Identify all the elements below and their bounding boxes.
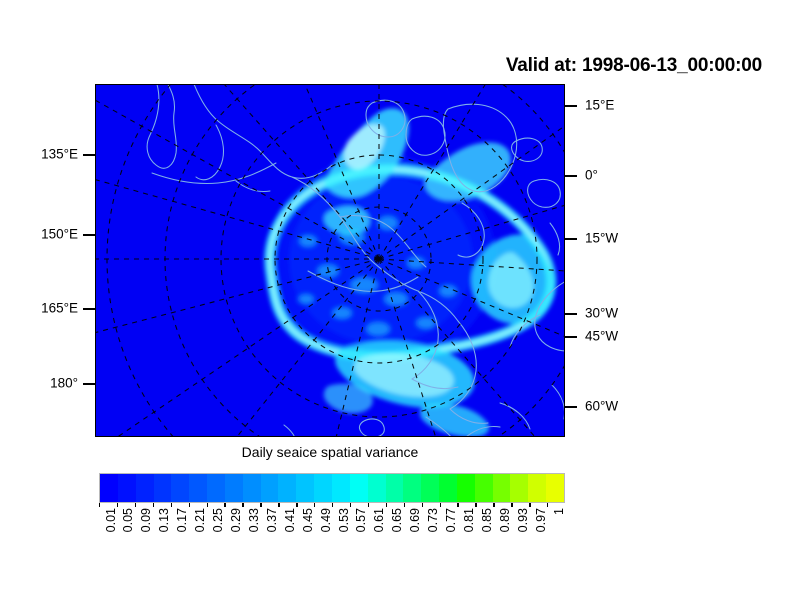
colorbar-tick-label: 0.01 (105, 508, 118, 532)
right-tick (565, 406, 577, 408)
colorbar-swatch (510, 474, 528, 502)
colorbar-tick (547, 503, 548, 507)
page-title: Valid at: 1998-06-13_00:00:00 (506, 55, 762, 77)
colorbar-swatch (350, 474, 368, 502)
colorbar-swatch (261, 474, 279, 502)
figure-canvas: Valid at: 1998-06-13_00:00:00 (0, 0, 792, 612)
colorbar-tick-label: 0.33 (248, 508, 261, 532)
colorbar-swatch (439, 474, 457, 502)
colorbar-tick (422, 503, 423, 507)
colorbar-tick-label: 0.85 (481, 508, 494, 532)
colorbar-swatch (243, 474, 261, 502)
colorbar-tick (135, 503, 136, 507)
colorbar-tick-label: 0.61 (373, 508, 386, 532)
colorbar-tick (224, 503, 225, 507)
colorbar-tick-label: 0.29 (230, 508, 243, 532)
map-panel[interactable] (95, 84, 565, 437)
colorbar-tick-label: 0.53 (338, 508, 351, 532)
colorbar-swatch (386, 474, 404, 502)
colorbar-swatch (546, 474, 564, 502)
right-tick (565, 336, 577, 338)
colorbar-swatch (171, 474, 189, 502)
colorbar-tick (189, 503, 190, 507)
colorbar-tick (242, 503, 243, 507)
colorbar-tick-label: 0.65 (391, 508, 404, 532)
right-tick (565, 313, 577, 315)
colorbar-gradient[interactable] (99, 473, 565, 503)
colorbar-swatch (457, 474, 475, 502)
left-axis-label: 135°E (0, 147, 78, 161)
colorbar-tick-label: 0.45 (302, 508, 315, 532)
colorbar[interactable] (99, 473, 565, 503)
colorbar-swatch (118, 474, 136, 502)
polar-stereographic-map (96, 85, 565, 437)
colorbar-swatch (136, 474, 154, 502)
left-tick (83, 383, 95, 385)
right-axis-label: 60°W (585, 399, 618, 413)
right-axis-label: 30°W (585, 306, 618, 320)
left-axis-label: 165°E (0, 301, 78, 315)
right-axis-label: 0° (585, 168, 598, 182)
colorbar-swatch (296, 474, 314, 502)
colorbar-tick (493, 503, 494, 507)
colorbar-tick (332, 503, 333, 507)
left-axis-label: 150°E (0, 227, 78, 241)
colorbar-tick-label: 0.73 (427, 508, 440, 532)
colorbar-tick-label: 0.09 (140, 508, 153, 532)
colorbar-tick (368, 503, 369, 507)
colorbar-tick (278, 503, 279, 507)
colorbar-tick-label: 0.41 (284, 508, 297, 532)
colorbar-tick (296, 503, 297, 507)
right-tick (565, 105, 577, 107)
colorbar-tick-label: 0.13 (158, 508, 171, 532)
colorbar-tick (529, 503, 530, 507)
right-tick (565, 238, 577, 240)
colorbar-tick-label: 0.37 (266, 508, 279, 532)
colorbar-tick (350, 503, 351, 507)
colorbar-tick-label: 0.17 (176, 508, 189, 532)
colorbar-tick (404, 503, 405, 507)
right-axis-label: 15°E (585, 98, 614, 112)
colorbar-tick-label: 0.89 (499, 508, 512, 532)
colorbar-tick (386, 503, 387, 507)
colorbar-swatch (225, 474, 243, 502)
colorbar-tick-label: 0.97 (535, 508, 548, 532)
colorbar-tick (260, 503, 261, 507)
colorbar-tick (457, 503, 458, 507)
colorbar-swatch (100, 474, 118, 502)
colorbar-tick-label: 0.21 (194, 508, 207, 532)
colorbar-caption: Daily seaice spatial variance (95, 444, 565, 460)
colorbar-tick-label: 0.69 (409, 508, 422, 532)
colorbar-tick (511, 503, 512, 507)
left-axis-label: 180° (0, 376, 78, 390)
right-tick (565, 175, 577, 177)
colorbar-swatch (403, 474, 421, 502)
colorbar-swatch (314, 474, 332, 502)
left-tick (83, 154, 95, 156)
colorbar-tick-label: 0.81 (463, 508, 476, 532)
colorbar-swatch (154, 474, 172, 502)
right-axis-label: 45°W (585, 329, 618, 343)
colorbar-swatch (189, 474, 207, 502)
colorbar-swatch (475, 474, 493, 502)
colorbar-tick-label: 1 (553, 508, 566, 515)
colorbar-tick-label: 0.25 (212, 508, 225, 532)
colorbar-swatch (207, 474, 225, 502)
colorbar-tick-label: 0.93 (517, 508, 530, 532)
colorbar-tick (117, 503, 118, 507)
colorbar-tick (314, 503, 315, 507)
colorbar-swatch (278, 474, 296, 502)
left-tick (83, 308, 95, 310)
colorbar-swatch (332, 474, 350, 502)
colorbar-tick (99, 503, 100, 507)
colorbar-tick (207, 503, 208, 507)
colorbar-swatch (368, 474, 386, 502)
colorbar-tick-label: 0.77 (445, 508, 458, 532)
colorbar-tick (440, 503, 441, 507)
colorbar-tick (171, 503, 172, 507)
left-tick (83, 234, 95, 236)
right-axis-label: 15°W (585, 231, 618, 245)
colorbar-swatch (528, 474, 546, 502)
colorbar-tick-label: 0.57 (355, 508, 368, 532)
colorbar-tick-label: 0.05 (122, 508, 135, 532)
colorbar-swatch (493, 474, 511, 502)
colorbar-swatch (421, 474, 439, 502)
colorbar-tick-label: 0.49 (320, 508, 333, 532)
colorbar-tick (475, 503, 476, 507)
colorbar-tick (153, 503, 154, 507)
